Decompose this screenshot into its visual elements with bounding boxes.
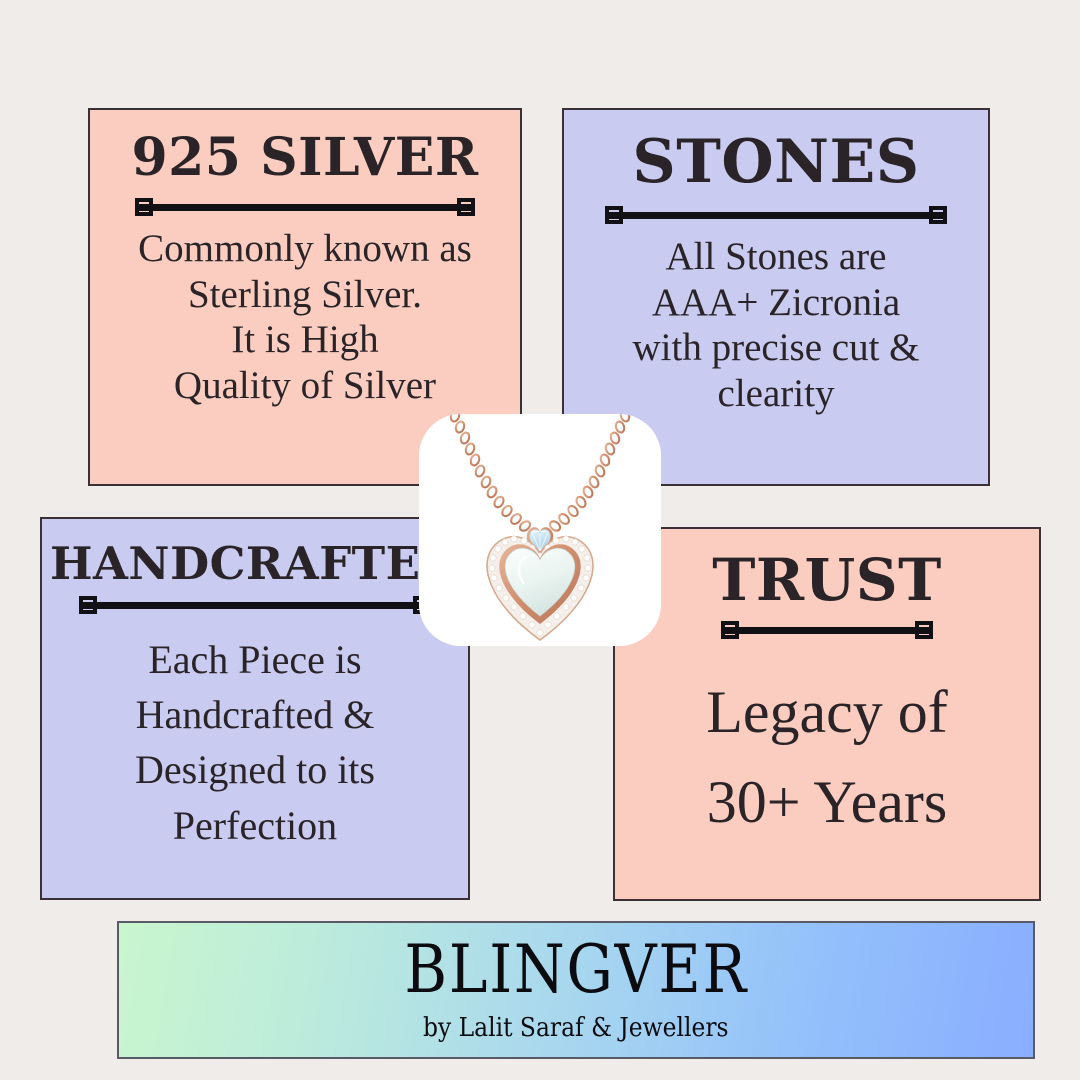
divider-stones xyxy=(605,206,947,224)
card-body-line: AAA+ Zicronia xyxy=(633,280,920,326)
feature-card-trust: TRUST Legacy of 30+ Years xyxy=(613,527,1041,901)
card-body-silver: Commonly known as Sterling Silver. It is… xyxy=(138,226,472,409)
divider-silver xyxy=(135,198,475,216)
divider-cap-left xyxy=(135,198,153,216)
divider-cap-right xyxy=(915,621,933,639)
card-body-trust: Legacy of 30+ Years xyxy=(706,649,948,847)
divider-trust xyxy=(721,621,933,639)
divider-cap-right xyxy=(929,206,947,224)
card-body-line: Legacy of xyxy=(706,667,948,757)
card-title-stones: STONES xyxy=(632,132,919,192)
card-title-handcrafted: HANDCRAFTED xyxy=(50,541,460,586)
divider-bar xyxy=(79,602,431,609)
brand-name: BLINGVER xyxy=(404,937,748,1003)
divider-cap-right xyxy=(457,198,475,216)
brand-tagline: by Lalit Saraf & Jewellers xyxy=(423,1013,729,1043)
divider-cap-left xyxy=(605,206,623,224)
brand-banner: BLINGVER by Lalit Saraf & Jewellers xyxy=(117,921,1035,1059)
card-body-line: Handcrafted & xyxy=(135,687,375,742)
necklace-product-illustration xyxy=(419,414,661,646)
infographic-canvas: 925 SILVER Commonly known as Sterling Si… xyxy=(0,0,1080,1080)
feature-card-handcrafted: HANDCRAFTED Each Piece is Handcrafted & … xyxy=(40,517,470,900)
card-title-silver: 925 SILVER xyxy=(131,132,478,184)
card-body-line: Sterling Silver. xyxy=(138,272,472,318)
card-body-line: Commonly known as xyxy=(138,226,472,272)
card-body-line: It is High xyxy=(138,317,472,363)
card-title-trust: TRUST xyxy=(712,551,942,609)
product-image-tile xyxy=(419,414,661,646)
card-body-line: Perfection xyxy=(135,798,375,853)
card-body-line: clearity xyxy=(633,371,920,417)
divider-cap-left xyxy=(721,621,739,639)
card-body-line: 30+ Years xyxy=(706,757,948,847)
card-body-stones: All Stones are AAA+ Zicronia with precis… xyxy=(633,234,920,417)
divider-bar xyxy=(721,627,933,634)
divider-bar xyxy=(605,212,947,219)
card-body-line: All Stones are xyxy=(633,234,920,280)
card-body-line: Each Piece is xyxy=(135,632,375,687)
card-body-line: with precise cut & xyxy=(633,325,920,371)
divider-bar xyxy=(135,204,475,211)
card-body-handcrafted: Each Piece is Handcrafted & Designed to … xyxy=(135,624,375,853)
divider-handcrafted xyxy=(79,596,431,614)
card-body-line: Quality of Silver xyxy=(138,363,472,409)
divider-cap-left xyxy=(79,596,97,614)
card-body-line: Designed to its xyxy=(135,742,375,797)
